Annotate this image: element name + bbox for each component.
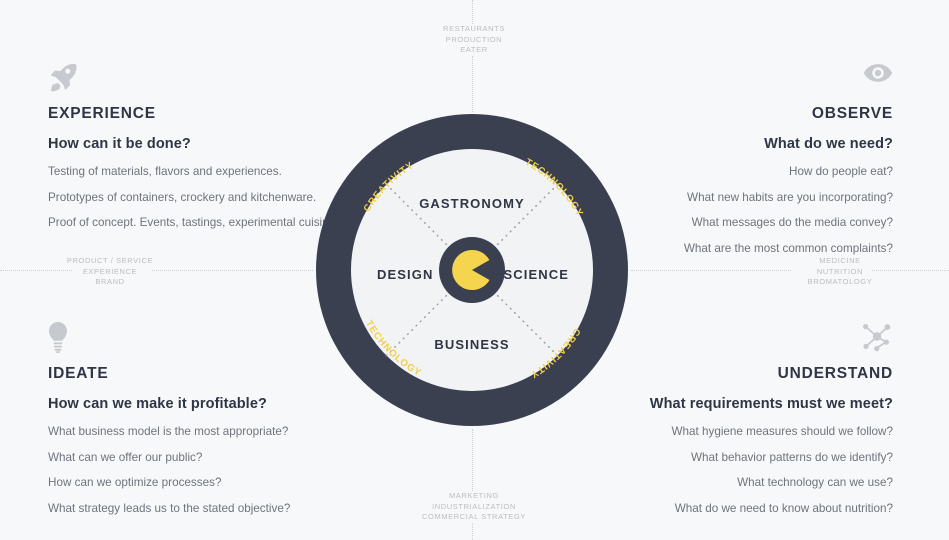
- block-understand-line: What do we need to know about nutrition?: [593, 501, 893, 518]
- block-understand-line: What hygiene measures should we follow?: [593, 424, 893, 441]
- rocket-icon: [48, 62, 348, 96]
- axis-label-bottom: MARKETING INDUSTRIALIZATION COMMERCIAL S…: [398, 491, 550, 523]
- block-observe-question: What do we need?: [593, 136, 893, 152]
- axis-guide-bottom-upper: [472, 429, 473, 491]
- axis-guide-bottom: [472, 523, 473, 540]
- axis-top-line-1: RESTAURANTS: [404, 24, 544, 35]
- block-ideate-line: What business model is the most appropri…: [48, 424, 348, 441]
- network-icon: [593, 322, 893, 356]
- block-ideate-question: How can we make it profitable?: [48, 396, 348, 412]
- block-understand: UNDERSTAND What requirements must we mee…: [593, 322, 893, 517]
- block-understand-question: What requirements must we meet?: [593, 396, 893, 412]
- block-understand-line: What technology can we use?: [593, 475, 893, 492]
- quadrant-label-design: DESIGN: [377, 267, 433, 282]
- block-ideate-line: How can we optimize processes?: [48, 475, 348, 492]
- block-experience-question: How can it be done?: [48, 136, 348, 152]
- axis-right-line-2: NUTRITION: [760, 267, 920, 278]
- quadrant-label-business: BUSINESS: [434, 337, 509, 352]
- block-ideate-line: What can we offer our public?: [48, 450, 348, 467]
- block-observe: OBSERVE What do we need? How do people e…: [593, 62, 893, 257]
- block-ideate-title: IDEATE: [48, 365, 348, 383]
- axis-top-line-2: PRODUCTION: [404, 35, 544, 46]
- block-observe-line: What are the most common complaints?: [593, 241, 893, 258]
- block-ideate-line: What strategy leads us to the stated obj…: [48, 501, 348, 518]
- block-experience: EXPERIENCE How can it be done? Testing o…: [48, 62, 348, 232]
- block-observe-line: What new habits are you incorporating?: [593, 190, 893, 207]
- block-observe-line: What messages do the media convey?: [593, 215, 893, 232]
- block-understand-title: UNDERSTAND: [593, 365, 893, 383]
- block-experience-line: Proof of concept. Events, tastings, expe…: [48, 215, 348, 232]
- axis-top-line-3: EATER: [404, 45, 544, 56]
- quadrant-label-science: SCIENCE: [504, 267, 570, 282]
- axis-label-top: RESTAURANTS PRODUCTION EATER: [404, 24, 544, 56]
- axis-right-line-3: BROMATOLOGY: [760, 277, 920, 288]
- eye-icon: [593, 62, 893, 96]
- block-observe-line: How do people eat?: [593, 164, 893, 181]
- block-ideate: IDEATE How can we make it profitable? Wh…: [48, 322, 348, 517]
- axis-left-line-1: PRODUCT / SERVICE: [30, 256, 190, 267]
- concept-wheel: CREATIVITY TECHNOLOGY TECHNOLOGY CREATIV…: [313, 111, 631, 429]
- axis-label-left: PRODUCT / SERVICE EXPERIENCE BRAND: [30, 256, 190, 288]
- axis-label-right: MEDICINE NUTRITION BROMATOLOGY: [760, 256, 920, 288]
- quadrant-label-gastronomy: GASTRONOMY: [419, 196, 525, 211]
- axis-bottom-line-2: INDUSTRIALIZATION: [398, 502, 550, 513]
- block-experience-line: Prototypes of containers, crockery and k…: [48, 190, 348, 207]
- infographic-canvas: RESTAURANTS PRODUCTION EATER MARKETING I…: [0, 0, 949, 540]
- axis-guide-top-lower: [472, 56, 473, 112]
- axis-bottom-line-3: COMMERCIAL STRATEGY: [398, 512, 550, 523]
- lightbulb-icon: [48, 322, 348, 356]
- axis-guide-top: [472, 0, 473, 24]
- block-experience-title: EXPERIENCE: [48, 105, 348, 123]
- block-understand-line: What behavior patterns do we identify?: [593, 450, 893, 467]
- axis-bottom-line-1: MARKETING: [398, 491, 550, 502]
- axis-left-line-3: BRAND: [30, 277, 190, 288]
- block-observe-title: OBSERVE: [593, 105, 893, 123]
- axis-left-line-2: EXPERIENCE: [30, 267, 190, 278]
- block-experience-line: Testing of materials, flavors and experi…: [48, 164, 348, 181]
- axis-right-line-1: MEDICINE: [760, 256, 920, 267]
